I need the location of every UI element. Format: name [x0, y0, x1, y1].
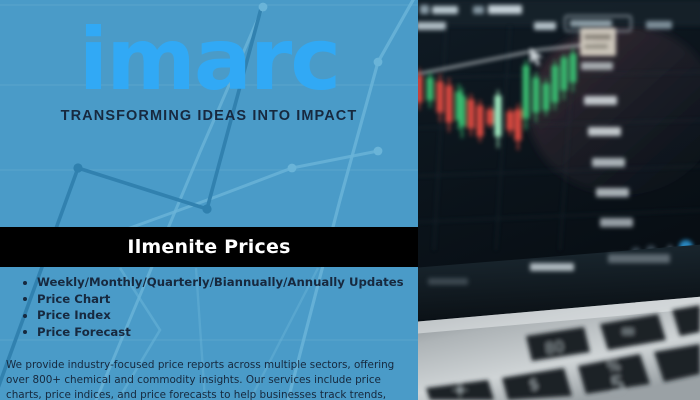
list-item: Price Index — [20, 307, 418, 324]
page-title: Ilmenite Prices — [127, 236, 290, 258]
list-item: Price Forecast — [20, 324, 418, 341]
description-paragraph: We provide industry-focused price report… — [6, 358, 410, 400]
list-item: Price Chart — [20, 291, 418, 308]
brand-logo: imarc TRANSFORMING IDEAS INTO IMPACT — [0, 20, 418, 124]
logo-wordmark: imarc — [79, 20, 340, 102]
feature-list: Weekly/Monthly/Quarterly/Biannually/Annu… — [0, 274, 418, 340]
photo-illustration: $ % 5 80 — [418, 0, 700, 400]
left-blue-panel: imarc TRANSFORMING IDEAS INTO IMPACT Ilm… — [0, 0, 418, 400]
svg-text:80: 80 — [544, 337, 566, 358]
logo-tagline: TRANSFORMING IDEAS INTO IMPACT — [0, 108, 418, 124]
trading-screen-photo: $ % 5 80 — [418, 0, 700, 400]
poster-root: imarc TRANSFORMING IDEAS INTO IMPACT Ilm… — [0, 0, 700, 400]
title-bar: Ilmenite Prices — [0, 227, 418, 267]
list-item: Weekly/Monthly/Quarterly/Biannually/Annu… — [20, 274, 418, 291]
